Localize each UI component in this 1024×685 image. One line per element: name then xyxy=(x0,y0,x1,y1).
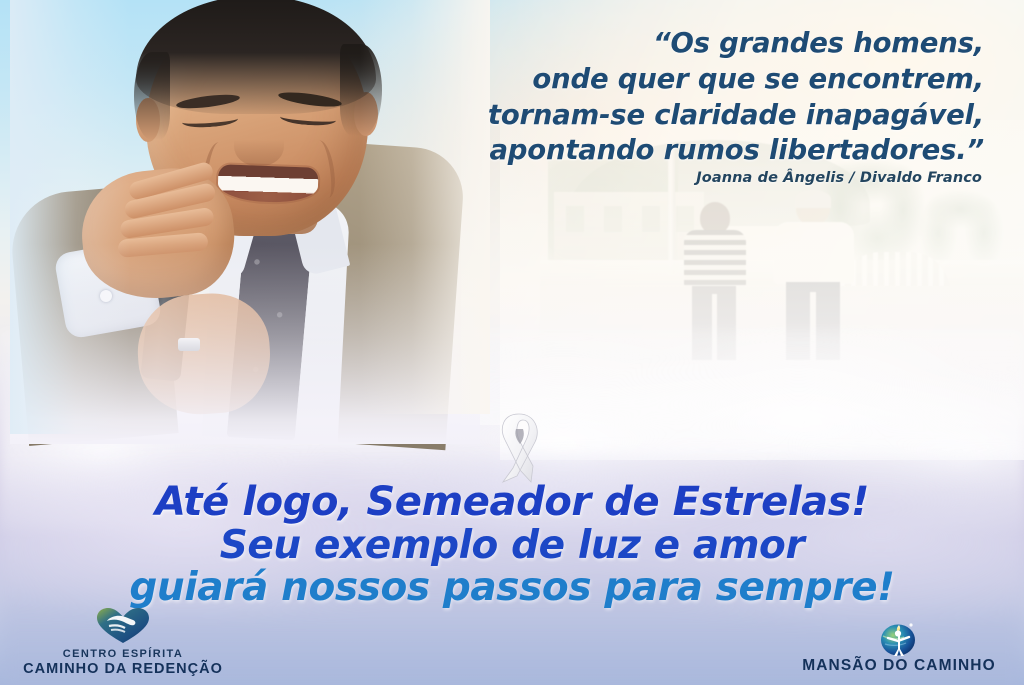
globe-with-figure-and-flame-icon xyxy=(784,616,1014,656)
portrait-left-fade xyxy=(10,0,130,434)
portrait-hair-side-left xyxy=(134,52,170,140)
headline-line-3: guiará nossos passos para sempre! xyxy=(0,568,1024,609)
tribute-poster: “Os grandes homens, onde quer que se enc… xyxy=(0,0,1024,685)
headline-message: Até logo, Semeador de Estrelas! Seu exem… xyxy=(0,482,1024,609)
logo-left-line-1: CENTRO ESPÍRITA xyxy=(8,648,238,660)
quote-line-2: onde quer que se encontrem, xyxy=(424,62,984,98)
quote-text: “Os grandes homens, onde quer que se enc… xyxy=(424,26,984,169)
logo-right-line-2: MANSÃO DO CAMINHO xyxy=(784,657,1014,675)
portrait-nose xyxy=(234,122,284,166)
quote-line-3: tornam-se claridade inapagável, xyxy=(424,98,984,134)
headline-line-2: Seu exemplo de luz e amor xyxy=(0,526,1024,567)
logo-left-line-2: CAMINHO DA REDENÇÃO xyxy=(8,661,238,677)
logo-centro-espirita[interactable]: CENTRO ESPÍRITA CAMINHO DA REDENÇÃO xyxy=(8,607,238,677)
portrait-photo xyxy=(10,0,440,434)
quote-line-1: “Os grandes homens, xyxy=(424,26,984,62)
mourning-ribbon-icon xyxy=(487,408,551,488)
quote-line-4: apontando rumos libertadores.” xyxy=(424,133,984,169)
logo-mansao-do-caminho[interactable]: MANSÃO DO CAMINHO xyxy=(784,616,1014,675)
headline-line-1: Até logo, Semeador de Estrelas! xyxy=(0,482,1024,524)
heart-with-hands-icon xyxy=(8,607,238,647)
quote-attribution: Joanna de Ângelis / Divaldo Franco xyxy=(422,170,982,186)
